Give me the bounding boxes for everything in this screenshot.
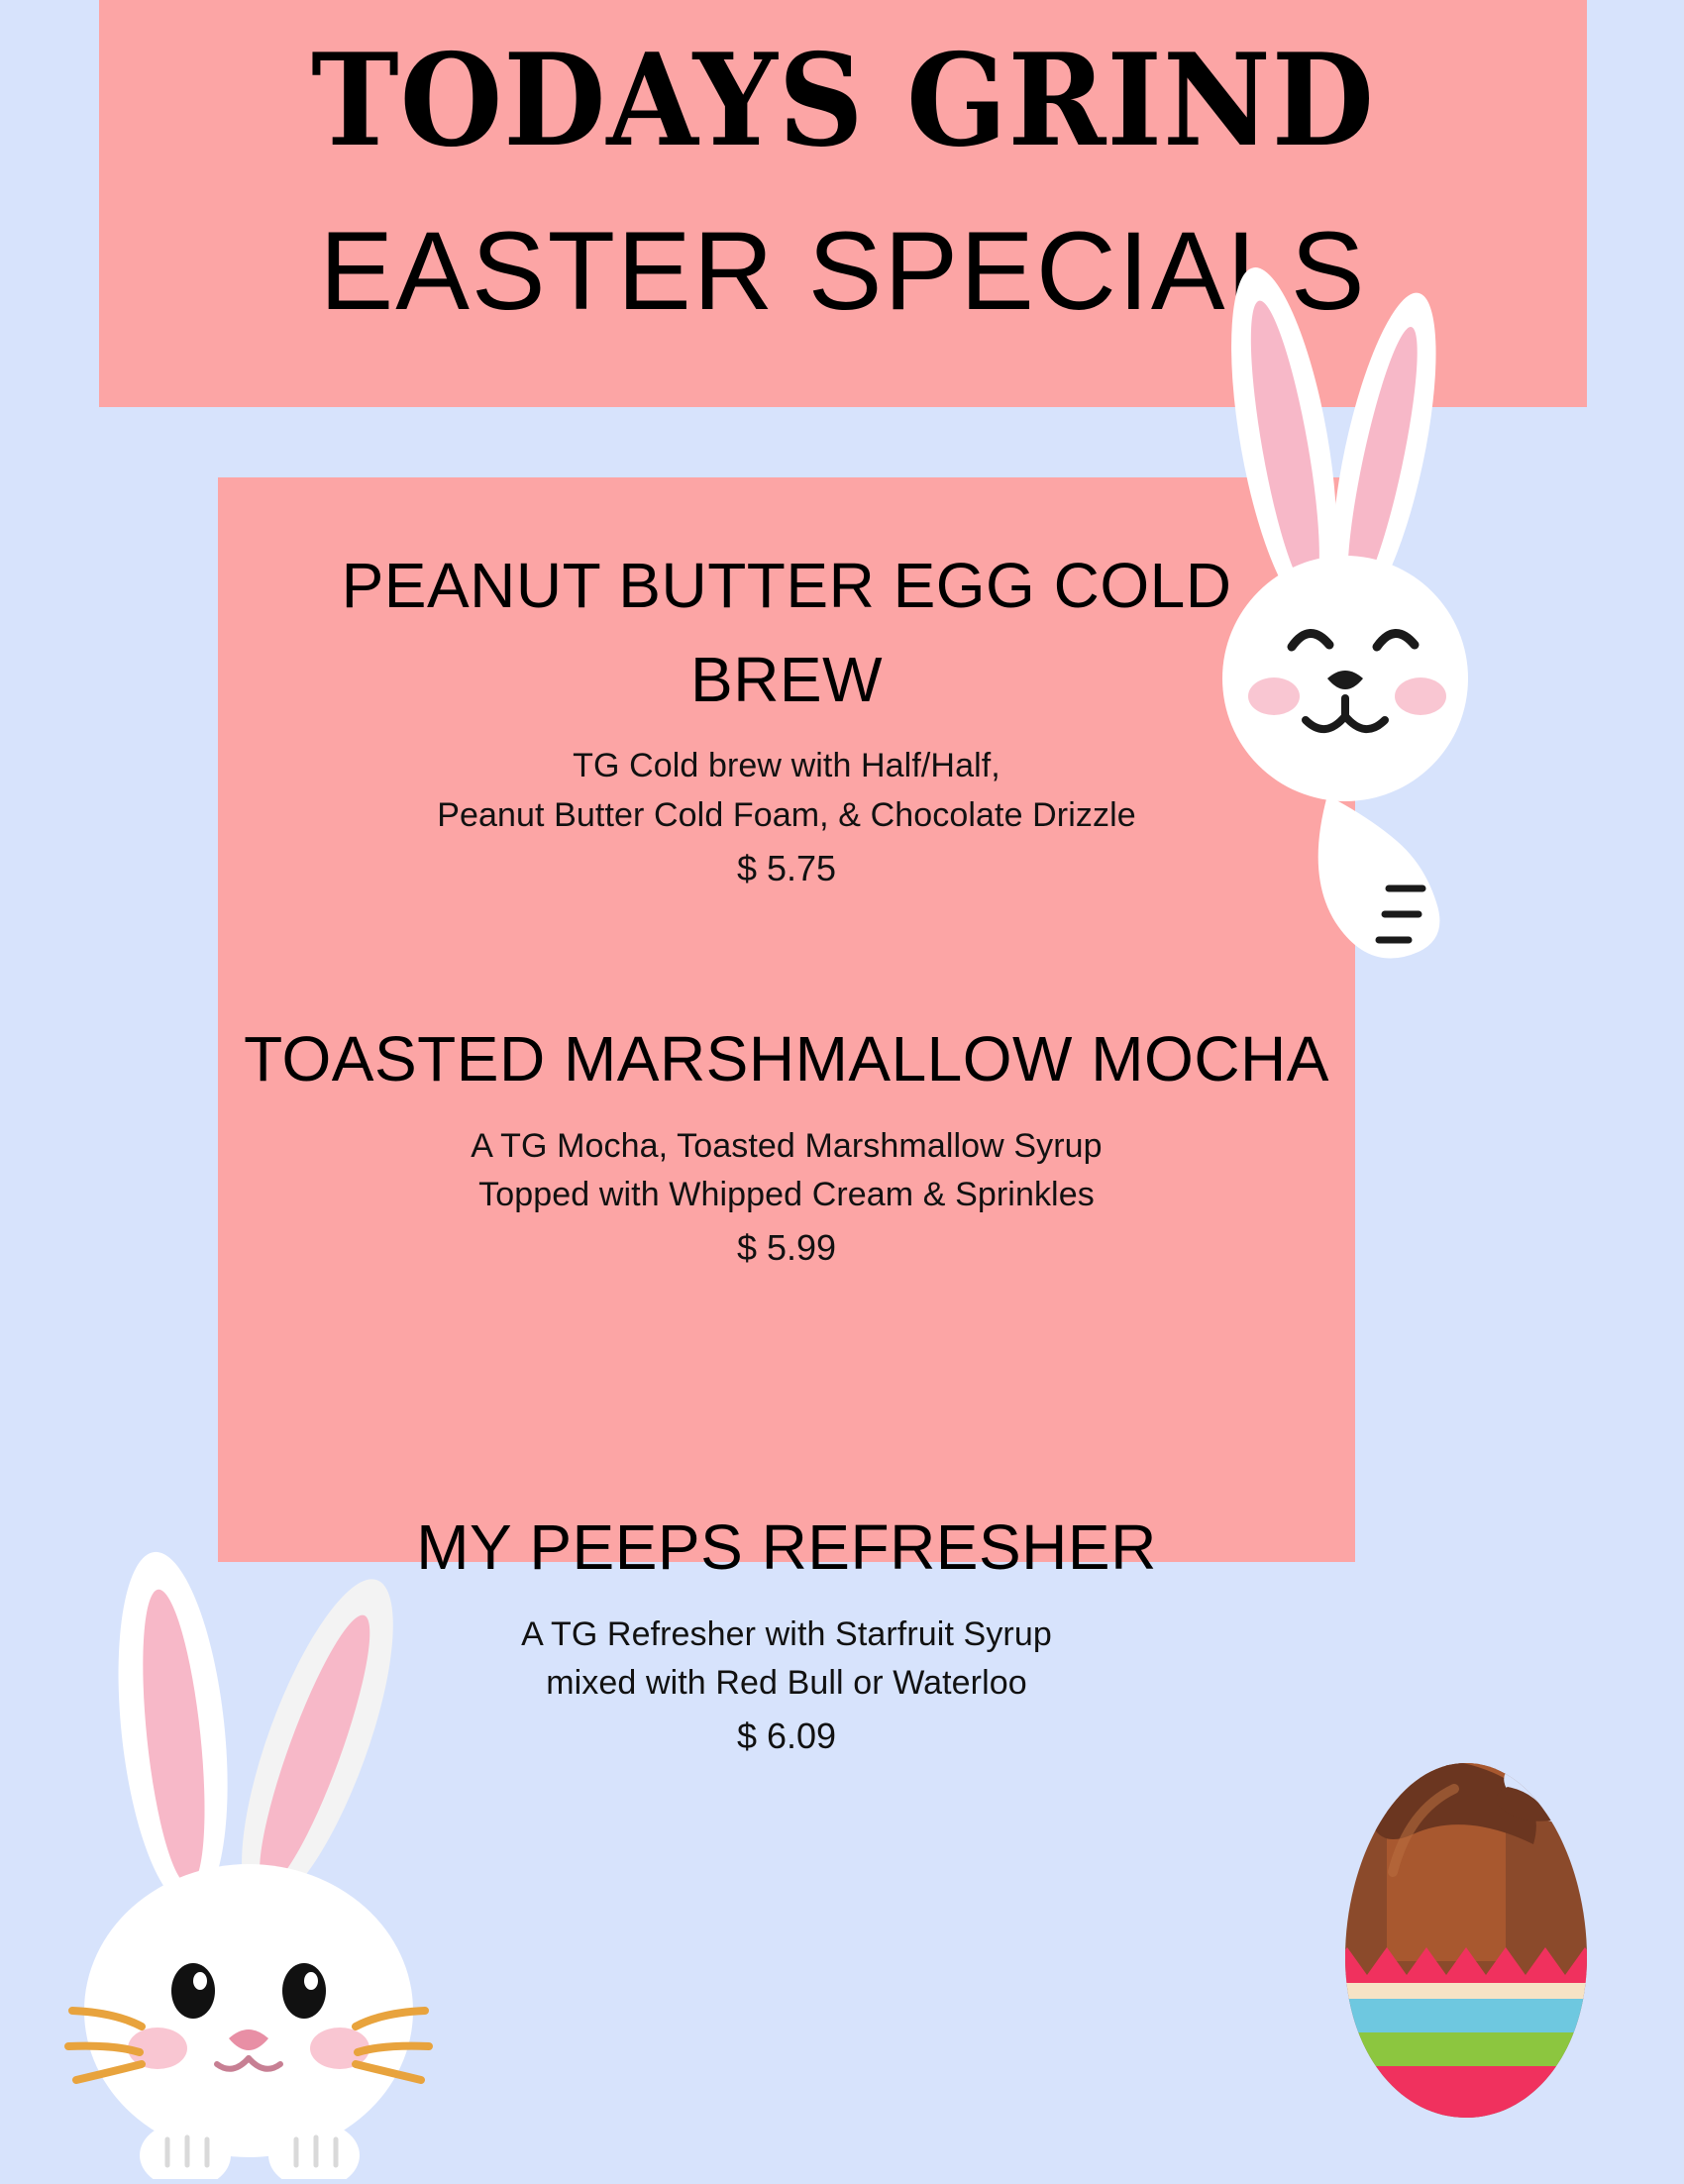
- menu-item-description: TG Cold brew with Half/Half, Peanut Butt…: [218, 742, 1355, 840]
- menu-item-price: $ 6.09: [218, 1711, 1355, 1761]
- menu-item-description: A TG Refresher with Starfruit Syrup mixe…: [218, 1611, 1355, 1709]
- description-line: A TG Refresher with Starfruit Syrup: [258, 1611, 1316, 1660]
- menu-item-price: $ 5.99: [218, 1222, 1355, 1273]
- description-line: mixed with Red Bull or Waterloo: [258, 1659, 1316, 1709]
- menu-item-description: A TG Mocha, Toasted Marshmallow Syrup To…: [218, 1122, 1355, 1220]
- menu-item: TOASTED MARSHMALLOW MOCHA A TG Mocha, To…: [218, 1012, 1355, 1273]
- menu-item-name: MY PEEPS REFRESHER: [218, 1501, 1355, 1595]
- menu-item-name-line: TOASTED MARSHMALLOW: [244, 1023, 1073, 1094]
- menu-item-name-line: MY PEEPS REFRESHER: [416, 1511, 1157, 1583]
- easter-specials-poster: TODAYS GRIND EASTER SPECIALS PEANUT BUTT…: [0, 0, 1684, 2179]
- page-title: TODAYS GRIND: [152, 38, 1535, 164]
- description-line: Peanut Butter Cold Foam, & Chocolate Dri…: [258, 791, 1316, 841]
- menu-item-name-line: MOCHA: [1091, 1023, 1329, 1094]
- chocolate-easter-egg-icon: [1327, 1753, 1605, 2130]
- description-line: TG Cold brew with Half/Half,: [258, 742, 1316, 791]
- menu-panel: PEANUT BUTTER EGG COLD BREW TG Cold brew…: [218, 477, 1355, 1562]
- menu-item: MY PEEPS REFRESHER A TG Refresher with S…: [218, 1501, 1355, 1761]
- menu-item-name-line: PEANUT BUTTER EGG: [342, 550, 1036, 621]
- menu-item-name: PEANUT BUTTER EGG COLD BREW: [218, 539, 1355, 726]
- description-line: Topped with Whipped Cream & Sprinkles: [258, 1171, 1316, 1220]
- menu-item-list: PEANUT BUTTER EGG COLD BREW TG Cold brew…: [218, 477, 1355, 1562]
- header-band: TODAYS GRIND EASTER SPECIALS: [99, 0, 1587, 407]
- menu-item-name: TOASTED MARSHMALLOW MOCHA: [218, 1012, 1355, 1106]
- page-subtitle: EASTER SPECIALS: [99, 216, 1587, 327]
- menu-item-price: $ 5.75: [218, 843, 1355, 893]
- description-line: A TG Mocha, Toasted Marshmallow Syrup: [258, 1122, 1316, 1172]
- menu-item: PEANUT BUTTER EGG COLD BREW TG Cold brew…: [218, 539, 1355, 893]
